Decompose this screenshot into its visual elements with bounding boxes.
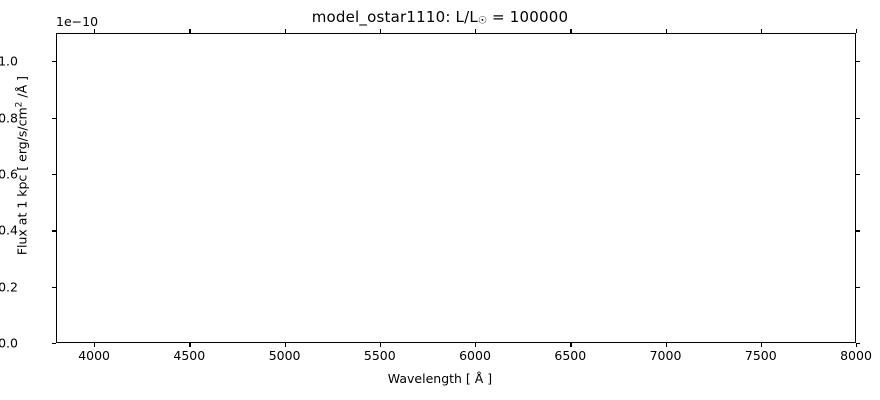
x-tick-mark-top: [570, 29, 571, 33]
x-tick-mark: [94, 343, 95, 347]
x-tick-label: 7000: [650, 348, 682, 363]
x-tick-label: 7500: [745, 348, 777, 363]
x-tick-mark: [380, 343, 381, 347]
y-tick-label: 0.2: [0, 279, 18, 294]
x-tick-mark-top: [475, 29, 476, 33]
x-tick-mark: [189, 343, 190, 347]
plot-area: [56, 33, 856, 343]
chart-title-suffix: = 100000: [487, 8, 568, 26]
y-tick-mark: [52, 343, 56, 344]
x-tick-mark-top: [380, 29, 381, 33]
y-tick-mark-right: [856, 287, 860, 288]
y-tick-label: 0.8: [0, 110, 18, 125]
y-tick-mark: [52, 287, 56, 288]
x-tick-label: 6000: [459, 348, 491, 363]
x-tick-label: 5500: [364, 348, 396, 363]
chart-title-prefix: model_ostar1110: L/L: [312, 8, 478, 26]
y-tick-label: 1.0: [0, 54, 18, 69]
x-tick-mark: [570, 343, 571, 347]
x-tick-label: 4500: [173, 348, 205, 363]
y-tick-mark: [52, 174, 56, 175]
y-tick-label: 0.0: [0, 336, 18, 351]
y-axis-offset-label: 1e−10: [56, 14, 98, 29]
y-tick-mark-right: [856, 174, 860, 175]
x-tick-label: 8000: [840, 348, 872, 363]
x-tick-mark: [285, 343, 286, 347]
y-tick-mark: [52, 230, 56, 231]
x-tick-label: 6500: [554, 348, 586, 363]
y-tick-mark-right: [856, 61, 860, 62]
x-tick-mark-top: [285, 29, 286, 33]
x-tick-mark: [761, 343, 762, 347]
x-tick-mark-top: [189, 29, 190, 33]
y-tick-mark: [52, 61, 56, 62]
x-tick-mark-top: [94, 29, 95, 33]
x-tick-mark-top: [761, 29, 762, 33]
y-tick-mark-right: [856, 343, 860, 344]
figure-canvas: model_ostar1110: L/L☉ = 100000 1e−10 Wav…: [0, 0, 880, 400]
y-tick-mark-right: [856, 230, 860, 231]
y-tick-label: 0.6: [0, 166, 18, 181]
y-tick-mark-right: [856, 118, 860, 119]
chart-title: model_ostar1110: L/L☉ = 100000: [0, 8, 880, 27]
x-axis-label: Wavelength [ Å ]: [0, 371, 880, 386]
x-tick-label: 4000: [78, 348, 110, 363]
x-tick-mark-top: [856, 29, 857, 33]
x-tick-mark-top: [666, 29, 667, 33]
x-tick-label: 5000: [269, 348, 301, 363]
plot-frame: [56, 33, 856, 343]
x-tick-mark: [475, 343, 476, 347]
y-tick-label: 0.4: [0, 223, 18, 238]
y-tick-mark: [52, 118, 56, 119]
sun-symbol-icon: ☉: [478, 16, 487, 27]
x-tick-mark: [666, 343, 667, 347]
